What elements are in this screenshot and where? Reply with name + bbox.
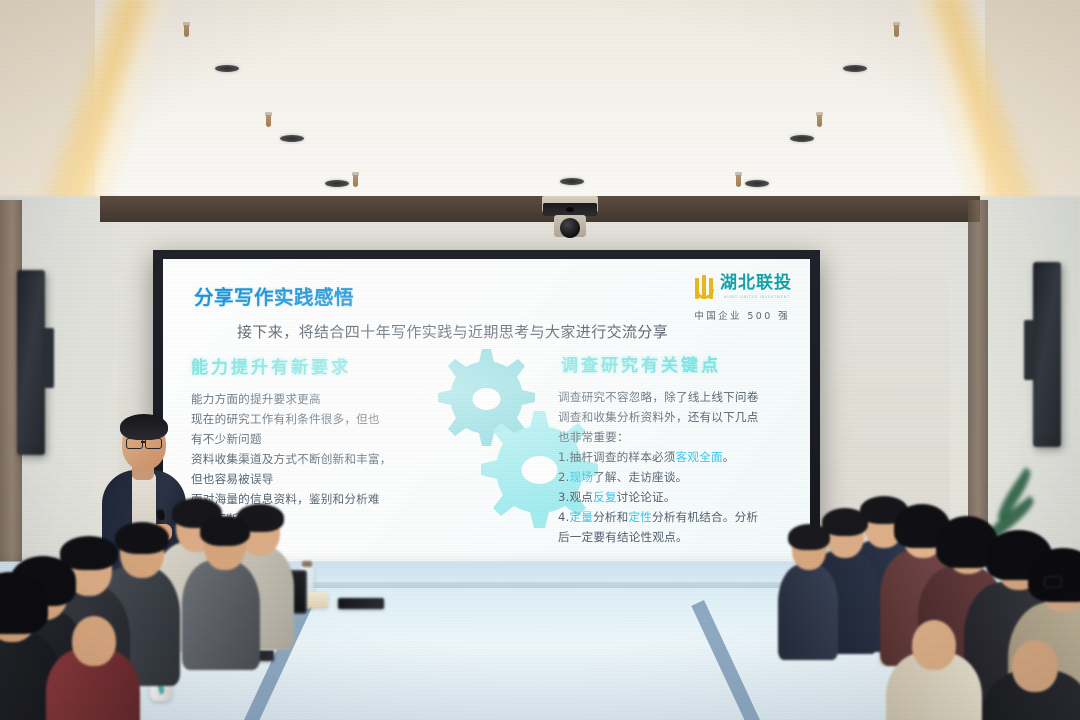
body-line: 2.现场了解、走访座谈。	[558, 467, 810, 487]
slide-subtitle: 接下来，将结合四十年写作实践与近期思考与大家进行交流分享	[237, 321, 668, 342]
glasses-icon	[145, 438, 162, 449]
glasses-icon	[126, 438, 143, 449]
cove-glow-right	[890, 0, 1080, 212]
logo-award-text: 中国企业 500 强	[612, 308, 792, 322]
glasses-icon	[1044, 576, 1062, 588]
body-line: 4.定量分析和定性分析有机结合。分析	[558, 507, 810, 527]
ceiling-panel	[95, 0, 985, 200]
logo-brand-name: 湖北联投	[720, 275, 792, 292]
sprinkler-head	[816, 112, 823, 128]
sprinkler-head	[183, 22, 190, 38]
smartphone	[338, 598, 384, 609]
ceiling-soffit	[100, 196, 980, 222]
column-heading-left: 能力提升有新要求	[191, 353, 351, 378]
company-logo: 湖北联投 HUBEI UNITED INVESTMENT 中国企业 500 强	[612, 275, 792, 322]
logo-row: 湖北联投 HUBEI UNITED INVESTMENT	[612, 275, 792, 299]
sprinkler-head	[735, 172, 742, 188]
body-line: 3.观点反复讨论论证。	[558, 487, 810, 507]
slide-title: 分享写作实践感悟	[194, 281, 354, 310]
column-body-left: 能力方面的提升要求更高 现在的研究工作有利条件很多，但也 有不少新问题 资料收集…	[191, 389, 481, 529]
ceiling	[0, 0, 1080, 205]
body-line: 调查和收集分析资料外，还有以下几点	[558, 407, 810, 427]
body-line: 面对海量的信息资料，鉴别和分析难	[191, 489, 481, 509]
body-line: 有不少新问题	[191, 429, 481, 449]
logo-brand-pinyin: HUBEI UNITED INVESTMENT	[720, 295, 792, 299]
body-line: 也非常重要：	[558, 427, 810, 447]
recessed-downlight	[843, 65, 867, 72]
column-body-right: 调查研究不容忽略，除了线上线下问卷 调查和收集分析资料外，还有以下几点 也非常重…	[558, 387, 810, 547]
sprinkler-head	[265, 112, 272, 128]
camera-ptz-head	[560, 218, 580, 238]
cove-glow-left	[0, 0, 190, 212]
body-line: 调查研究不容忽略，除了线上线下问卷	[558, 387, 810, 407]
conference-room-photo: 分享写作实践感悟 接下来，将结合四十年写作实践与近期思考与大家进行交流分享 湖北…	[0, 0, 1080, 720]
speaker-bracket	[43, 328, 54, 388]
body-line: 后一定要有结论性观点。	[558, 527, 810, 547]
column-heading-right: 调查研究有关键点	[561, 351, 721, 376]
presenter-hair	[120, 414, 168, 440]
body-line: 但也容易被误导	[191, 469, 481, 489]
glasses-bridge-icon	[141, 441, 145, 443]
speaker-grille	[20, 278, 42, 445]
shield-logo-icon	[695, 275, 714, 299]
recessed-downlight	[215, 65, 239, 72]
body-line: 资料收集渠道及方式不断创新和丰富，	[191, 449, 481, 469]
body-line: 1.抽杆调查的样本必须客观全面。	[558, 447, 810, 467]
recessed-downlight	[790, 135, 814, 142]
recessed-downlight	[560, 178, 584, 185]
recessed-downlight	[325, 180, 349, 187]
sprinkler-head	[352, 172, 359, 188]
sprinkler-head	[893, 22, 900, 38]
body-line: 能力方面的提升要求更高	[191, 389, 481, 409]
wall-speaker-left	[17, 270, 45, 455]
recessed-downlight	[745, 180, 769, 187]
body-line: 现在的研究工作有利条件很多，但也	[191, 409, 481, 429]
recessed-downlight	[280, 135, 304, 142]
camera-lens-icon	[566, 207, 574, 212]
